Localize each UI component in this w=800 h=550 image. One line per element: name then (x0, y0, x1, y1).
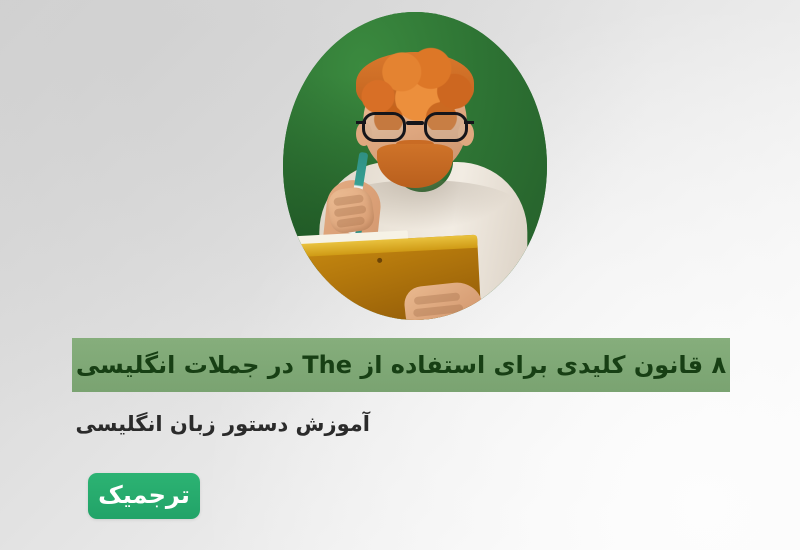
finger (333, 194, 364, 206)
finger (413, 304, 464, 317)
person-illustration (283, 12, 547, 320)
clipboard-rivet (301, 262, 306, 267)
lens-right (424, 112, 468, 142)
title-banner: ۸ قانون کلیدی برای استفاده از The در جمل… (72, 338, 730, 392)
finger (414, 292, 461, 305)
brand-logo-badge[interactable]: ترجمیک (88, 473, 200, 519)
glasses-bridge (406, 121, 424, 125)
finger (418, 316, 461, 320)
finger (334, 205, 367, 217)
page-title: ۸ قانون کلیدی برای استفاده از The در جمل… (76, 353, 726, 377)
cover-canvas: ۸ قانون کلیدی برای استفاده از The در جمل… (0, 0, 800, 550)
brand-logo-text: ترجمیک (98, 483, 190, 507)
temple-left (356, 121, 366, 124)
finger (336, 216, 365, 228)
hero-photo-circle (283, 12, 547, 320)
lens-left (362, 112, 406, 142)
clipboard-rivet (377, 258, 382, 263)
eyeglasses (362, 112, 468, 142)
page-subtitle: آموزش دستور زبان انگلیسی (80, 412, 370, 436)
temple-right (464, 121, 474, 124)
